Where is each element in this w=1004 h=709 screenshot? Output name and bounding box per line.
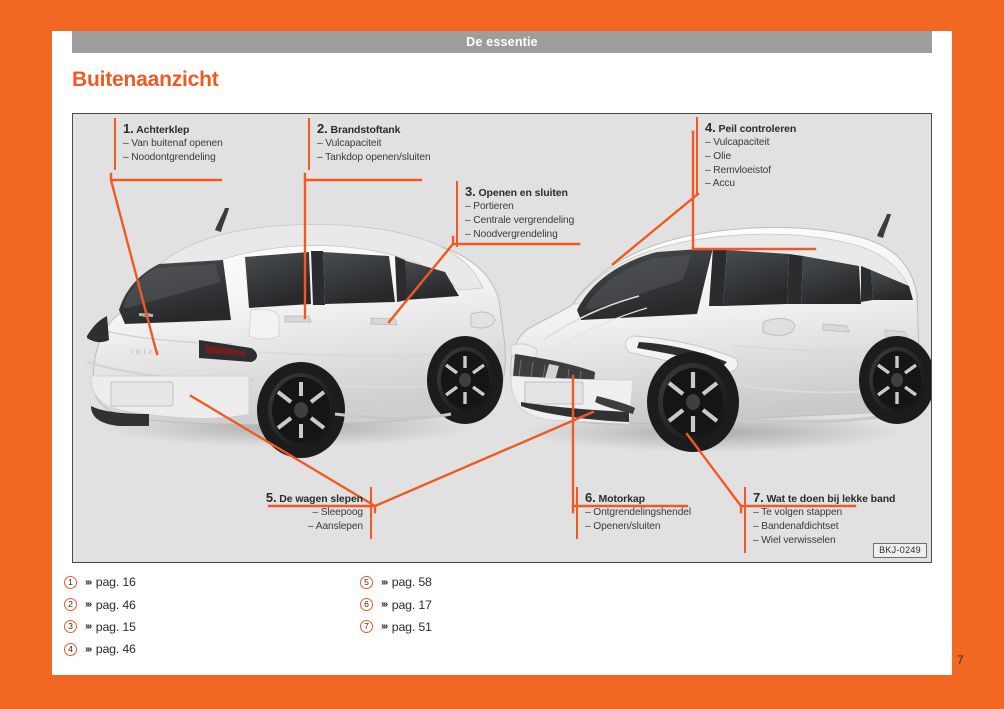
callout-4-item: – Remvloeistof xyxy=(705,164,796,178)
callout-5-item: – Aanslepen xyxy=(266,520,363,534)
chevrons-icon: ››› xyxy=(85,599,91,610)
running-header-title: De essentie xyxy=(466,35,538,49)
callout-1-item: – Van buitenaf openen xyxy=(123,137,223,151)
callout-3-title: 3. Openen en sluiten xyxy=(465,183,574,200)
callout-2-rule xyxy=(308,118,310,170)
reference-item[interactable]: 2 ››› pag. 46 xyxy=(64,593,136,615)
reference-marker: 1 xyxy=(64,576,77,589)
reference-item[interactable]: 4 ››› pag. 46 xyxy=(64,638,136,660)
reference-item[interactable]: 5 ››› pag. 58 xyxy=(360,571,432,593)
chevrons-icon: ››› xyxy=(381,621,387,632)
reference-page: pag. 17 xyxy=(392,598,432,612)
callout-7-item: – Bandenafdichtset xyxy=(753,520,895,534)
reference-marker: 6 xyxy=(360,598,373,611)
figure-code: BKJ-0249 xyxy=(873,543,927,558)
callout-6: 6. Motorkap – Ontgrendelingshendel – Ope… xyxy=(585,489,691,534)
callout-6-item: – Ontgrendelingshendel xyxy=(585,506,691,520)
callout-7-item: – Te volgen stappen xyxy=(753,506,895,520)
reference-page: pag. 15 xyxy=(96,620,136,634)
reference-marker: 3 xyxy=(64,620,77,633)
reference-marker: 7 xyxy=(360,620,373,633)
reference-item[interactable]: 3 ››› pag. 15 xyxy=(64,616,136,638)
reference-marker: 2 xyxy=(64,598,77,611)
callout-1-item: – Noodontgrendeling xyxy=(123,151,223,165)
callout-3: 3. Openen en sluiten – Portieren – Centr… xyxy=(465,183,574,241)
reference-list-right: 5 ››› pag. 58 6 ››› pag. 17 7 ››› pag. 5… xyxy=(360,571,432,638)
reference-page: pag. 58 xyxy=(392,575,432,589)
folio-page-number: 7 xyxy=(957,653,964,667)
chevrons-icon: ››› xyxy=(85,621,91,632)
callout-5-title: 5. De wagen slepen xyxy=(266,489,363,506)
callout-1-rule xyxy=(114,118,116,170)
chevrons-icon: ››› xyxy=(381,577,387,588)
callout-4-item: – Vulcapaciteit xyxy=(705,136,796,150)
callout-1: 1. Achterklep – Van buitenaf openen – No… xyxy=(123,120,223,165)
callout-3-item: – Centrale vergrendeling xyxy=(465,214,574,228)
reference-list-left: 1 ››› pag. 16 2 ››› pag. 46 3 ››› pag. 1… xyxy=(64,571,136,661)
chevrons-icon: ››› xyxy=(85,644,91,655)
callout-7: 7. Wat te doen bij lekke band – Te volge… xyxy=(753,489,895,547)
callout-4-title: 4. Peil controleren xyxy=(705,119,796,136)
chevrons-icon: ››› xyxy=(381,599,387,610)
callout-2-item: – Vulcapaciteit xyxy=(317,137,431,151)
callout-4-item: – Accu xyxy=(705,177,796,191)
reference-page: pag. 46 xyxy=(96,642,136,656)
callout-4: 4. Peil controleren – Vulcapaciteit – Ol… xyxy=(705,119,796,191)
chevrons-icon: ››› xyxy=(85,577,91,588)
exterior-view-diagram: ibiza xyxy=(72,113,932,563)
callout-4-item: – Olie xyxy=(705,150,796,164)
reference-marker: 4 xyxy=(64,643,77,656)
reference-page: pag. 16 xyxy=(96,575,136,589)
callout-1-title: 1. Achterklep xyxy=(123,120,223,137)
car-rear-three-quarter: ibiza xyxy=(87,208,505,458)
callout-6-item: – Openen/sluiten xyxy=(585,520,691,534)
reference-page: pag. 46 xyxy=(96,598,136,612)
callout-2-item: – Tankdop openen/sluiten xyxy=(317,151,431,165)
reference-page: pag. 51 xyxy=(392,620,432,634)
running-header-bar: De essentie xyxy=(72,31,932,53)
callout-3-item: – Portieren xyxy=(465,200,574,214)
callout-2: 2. Brandstoftank – Vulcapaciteit – Tankd… xyxy=(317,120,431,165)
page-root: De essentie Buitenaanzicht xyxy=(0,0,1004,709)
callout-3-rule xyxy=(456,181,458,247)
reference-item[interactable]: 6 ››› pag. 17 xyxy=(360,593,432,615)
page-title: Buitenaanzicht xyxy=(72,68,219,92)
callout-5-rule xyxy=(370,487,372,539)
reference-item[interactable]: 7 ››› pag. 51 xyxy=(360,616,432,638)
callout-5-item: – Sleepoog xyxy=(266,506,363,520)
reference-marker: 5 xyxy=(360,576,373,589)
reference-item[interactable]: 1 ››› pag. 16 xyxy=(64,571,136,593)
callout-6-title: 6. Motorkap xyxy=(585,489,691,506)
callout-7-rule xyxy=(744,487,746,553)
leader-2-underline xyxy=(305,174,421,180)
callout-5: 5. De wagen slepen – Sleepoog – Aanslepe… xyxy=(266,489,363,534)
callout-3-item: – Noodvergrendeling xyxy=(465,228,574,242)
callout-6-rule xyxy=(576,487,578,539)
callout-2-title: 2. Brandstoftank xyxy=(317,120,431,137)
leader-1-underline xyxy=(111,174,221,180)
callout-7-title: 7. Wat te doen bij lekke band xyxy=(753,489,895,506)
callout-4-rule xyxy=(696,117,698,196)
